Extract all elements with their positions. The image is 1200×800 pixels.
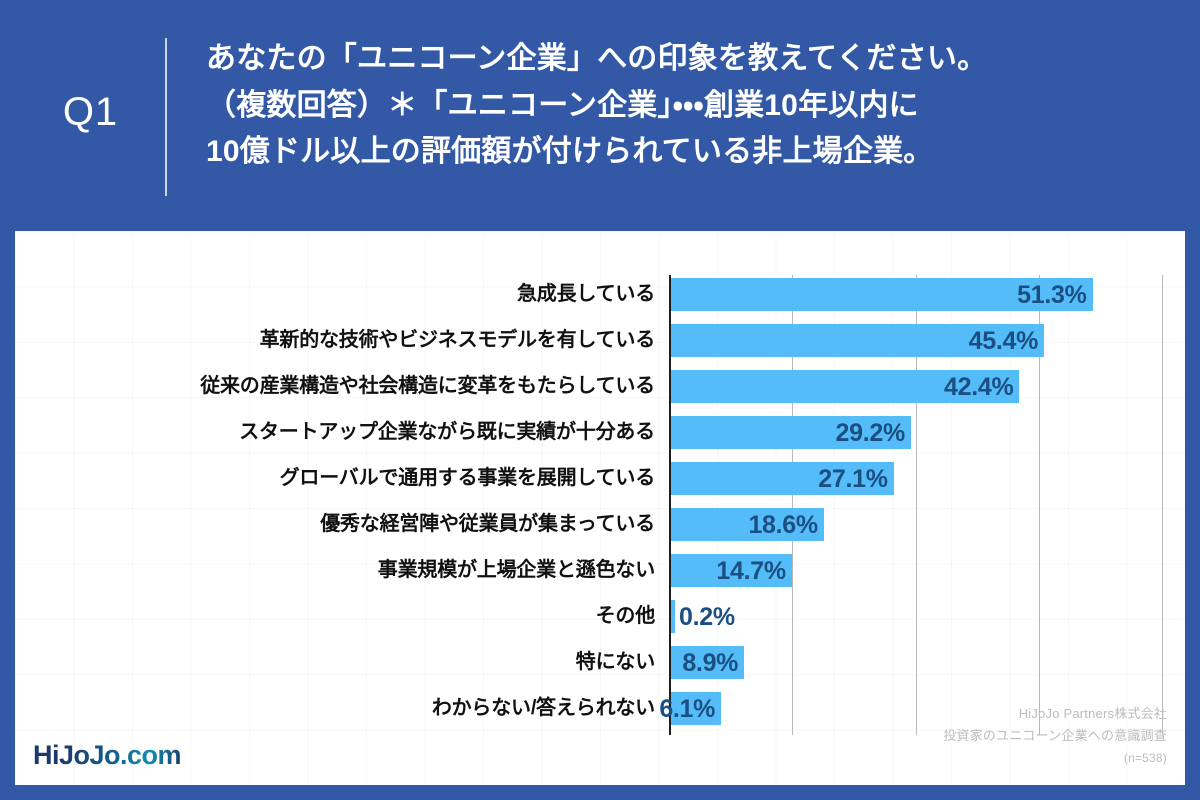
chart-card: 急成長している51.3%革新的な技術やビジネスモデルを有している45.4%従来の… bbox=[15, 231, 1185, 785]
chart-row: 従来の産業構造や社会構造に変革をもたらしている42.4% bbox=[15, 370, 1185, 403]
bar-value-label: 27.1% bbox=[818, 462, 887, 495]
bar-value-label: 8.9% bbox=[682, 646, 738, 679]
bar-container: 14.7% bbox=[671, 554, 792, 587]
bar-value-label: 51.3% bbox=[1017, 278, 1086, 311]
category-label: 特にない bbox=[15, 646, 655, 679]
bar-container: 27.1% bbox=[671, 462, 894, 495]
category-label: その他 bbox=[15, 600, 655, 633]
header-divider bbox=[165, 38, 167, 196]
question-header: Q1 あなたの「ユニコーン企業」への印象を教えてください。 （複数回答）＊「ユニ… bbox=[0, 0, 1200, 231]
question-text: あなたの「ユニコーン企業」への印象を教えてください。 （複数回答）＊「ユニコーン… bbox=[206, 36, 1166, 176]
category-label: 革新的な技術やビジネスモデルを有している bbox=[15, 324, 655, 357]
category-label: 従来の産業構造や社会構造に変革をもたらしている bbox=[15, 370, 655, 403]
chart-row: 革新的な技術やビジネスモデルを有している45.4% bbox=[15, 324, 1185, 357]
bar-value-label: 6.1% bbox=[659, 692, 715, 725]
credit-company: HiJoJo Partners株式会社 bbox=[943, 703, 1167, 726]
bar-container: 18.6% bbox=[671, 508, 824, 541]
bar bbox=[671, 600, 675, 633]
credit-survey: 投資家のユニコーン企業への意識調査 bbox=[943, 725, 1167, 748]
bar-value-label: 0.2% bbox=[679, 600, 735, 633]
question-number: Q1 bbox=[28, 92, 153, 132]
chart-row: グローバルで通用する事業を展開している27.1% bbox=[15, 462, 1185, 495]
chart-row: 優秀な経営陣や従業員が集まっている18.6% bbox=[15, 508, 1185, 541]
hijojo-logo: HiJoJo.com bbox=[33, 740, 181, 771]
category-label: 事業規模が上場企業と遜色ない bbox=[15, 554, 655, 587]
bar-value-label: 29.2% bbox=[836, 416, 905, 449]
credit-sample-size: (n=538) bbox=[943, 748, 1167, 769]
category-label: 急成長している bbox=[15, 278, 655, 311]
category-label: グローバルで通用する事業を展開している bbox=[15, 462, 655, 495]
bar-value-label: 14.7% bbox=[716, 554, 785, 587]
chart-row: スタートアップ企業ながら既に実績が十分ある29.2% bbox=[15, 416, 1185, 449]
bar-value-label: 42.4% bbox=[944, 370, 1013, 403]
category-label: スタートアップ企業ながら既に実績が十分ある bbox=[15, 416, 655, 449]
chart-row: その他0.2% bbox=[15, 600, 1185, 633]
chart-row: 特にない8.9% bbox=[15, 646, 1185, 679]
bar-container: 8.9% bbox=[671, 646, 744, 679]
bar-value-label: 45.4% bbox=[969, 324, 1038, 357]
category-label: わからない/答えられない bbox=[15, 692, 655, 725]
source-credit: HiJoJo Partners株式会社 投資家のユニコーン企業への意識調査 (n… bbox=[943, 703, 1167, 770]
bar-container: 42.4% bbox=[671, 370, 1019, 403]
bar-container: 0.2% bbox=[671, 600, 675, 633]
category-label: 優秀な経営陣や従業員が集まっている bbox=[15, 508, 655, 541]
chart-rows: 急成長している51.3%革新的な技術やビジネスモデルを有している45.4%従来の… bbox=[15, 278, 1185, 738]
bar-container: 45.4% bbox=[671, 324, 1044, 357]
bar-container: 29.2% bbox=[671, 416, 911, 449]
bar-container: 6.1% bbox=[671, 692, 721, 725]
bar-value-label: 18.6% bbox=[748, 508, 817, 541]
chart-row: 事業規模が上場企業と遜色ない14.7% bbox=[15, 554, 1185, 587]
chart-row: 急成長している51.3% bbox=[15, 278, 1185, 311]
bar-container: 51.3% bbox=[671, 278, 1093, 311]
